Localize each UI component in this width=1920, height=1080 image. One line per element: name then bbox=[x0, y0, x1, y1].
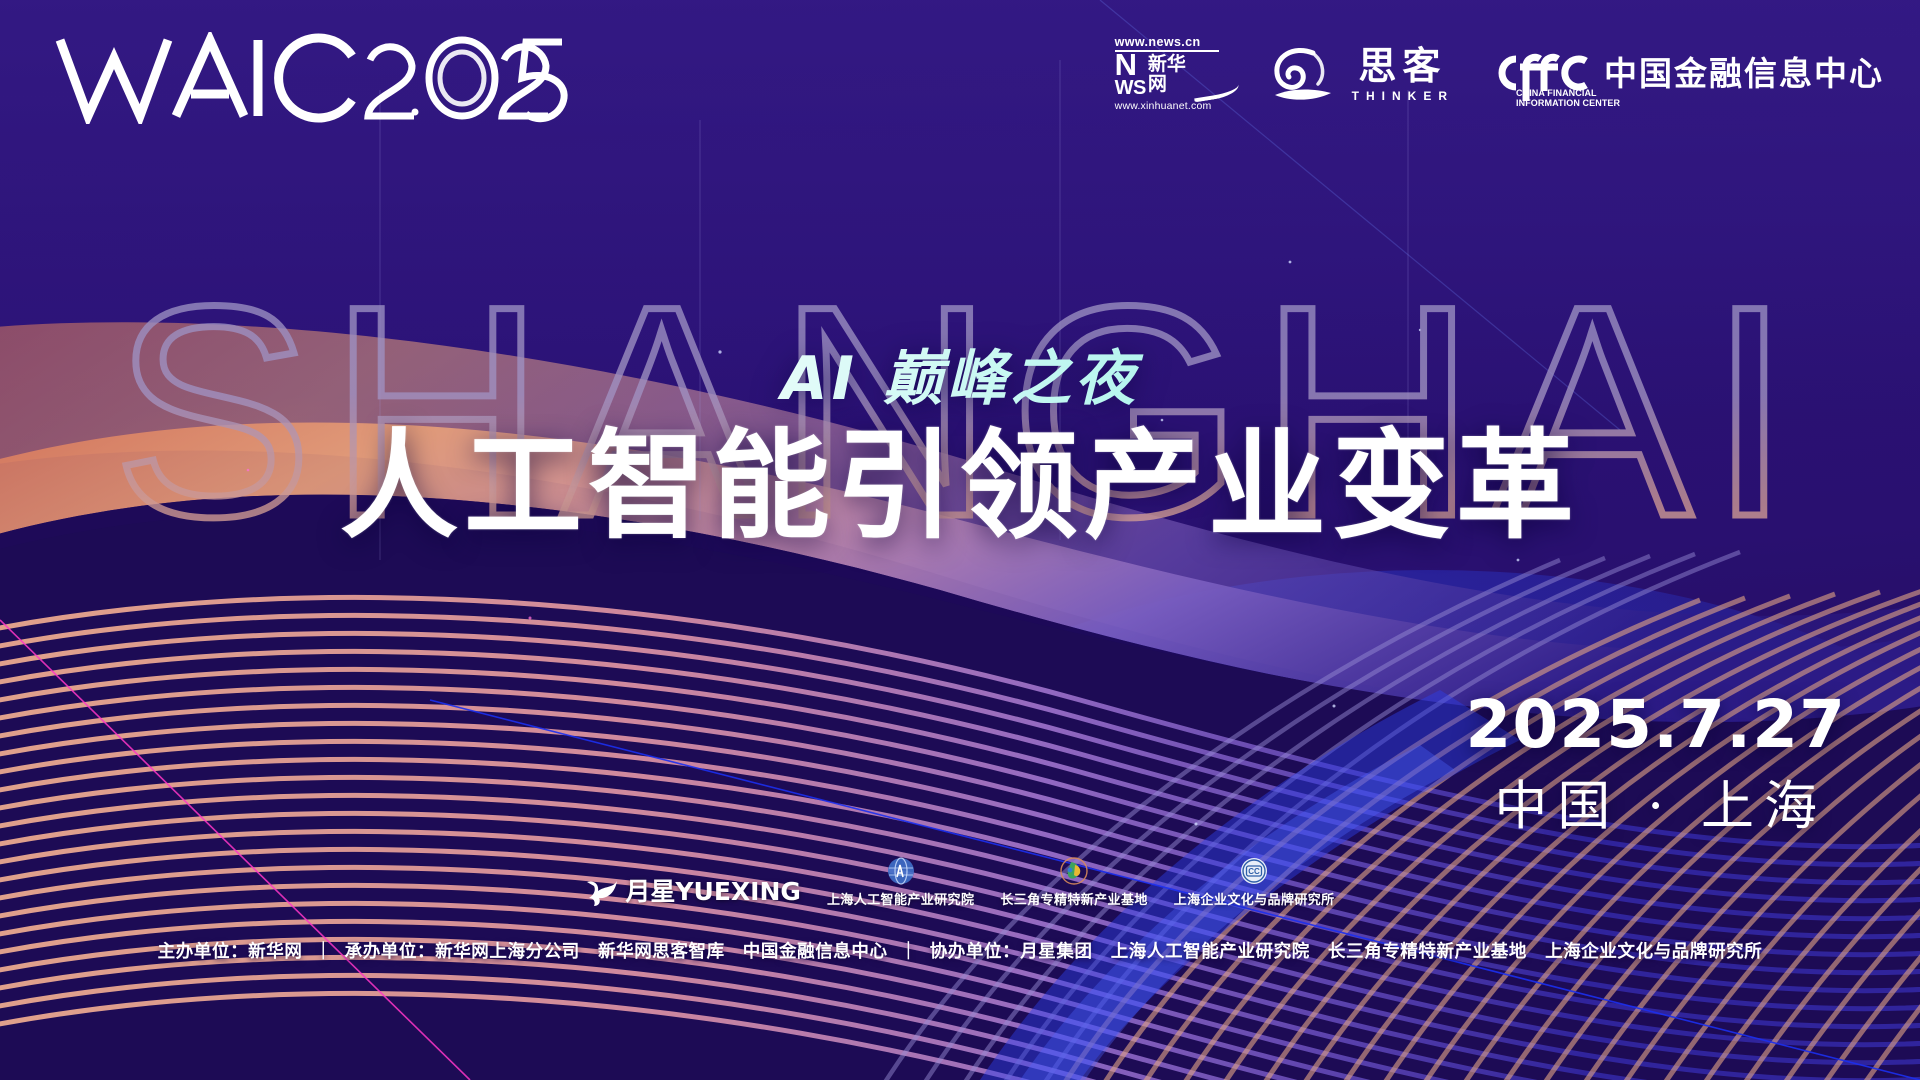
footer-credits: 主办单位：新华网｜承办单位：新华网上海分公司 新华网思客智库 中国金融信息中心｜… bbox=[0, 938, 1920, 963]
xinhua-nws-mark: N WS bbox=[1115, 54, 1146, 99]
footer-host-label: 主办单位： bbox=[158, 942, 249, 962]
sponsor-saii: 上海人工智能产业研究院 bbox=[827, 852, 974, 908]
thinker-brush-swirl-icon bbox=[1269, 43, 1335, 105]
thinker-logo: 思客 THINKER bbox=[1269, 38, 1454, 110]
svg-text:CC: CC bbox=[1248, 867, 1260, 876]
poster-header: www.news.cn N WS 新华 网 www.xinhuanet.com bbox=[0, 0, 1920, 150]
thinker-cn-name: 思客 bbox=[1352, 46, 1446, 86]
globe-ai-icon bbox=[886, 852, 916, 886]
cfic-logo: CHINA FINANCIAL INFORMATION CENTER 中国金融信… bbox=[1488, 37, 1884, 111]
sponsor-yrd-base-label: 长三角专精特新产业基地 bbox=[1000, 889, 1147, 908]
footer-organizer-label: 承办单位： bbox=[345, 942, 436, 962]
footer-coorganizer-label: 协办单位： bbox=[930, 942, 1021, 962]
xinhuanet-logo: www.news.cn N WS 新华 网 www.xinhuanet.com bbox=[1115, 35, 1235, 113]
sponsor-logo-row: 月星YUEXING 上海人工智能产业研究院 bbox=[0, 852, 1920, 908]
cfic-cn-name: 中国金融信息中心 bbox=[1604, 56, 1884, 92]
cfic-wordmark-icon: CHINA FINANCIAL INFORMATION CENTER bbox=[1488, 43, 1592, 105]
cfic-english-sub: CHINA FINANCIAL INFORMATION CENTER bbox=[1516, 88, 1620, 108]
sponsor-yrd-base: 长三角专精特新产业基地 bbox=[1000, 852, 1147, 908]
circle-map-icon bbox=[1059, 852, 1089, 886]
footer-organizer-values: 新华网上海分公司 新华网思客智库 中国金融信息中心 bbox=[435, 942, 888, 962]
event-date: 2025.7.27 bbox=[1465, 690, 1846, 760]
event-subtitle: AI 巅峰之夜 bbox=[0, 330, 1920, 417]
sponsor-saii-label: 上海人工智能产业研究院 bbox=[827, 889, 974, 908]
footer-host-value: 新华网 bbox=[248, 942, 302, 962]
sponsor-yuexing-label: 月星YUEXING bbox=[625, 872, 801, 908]
sponsor-secbri-label: 上海企业文化与品牌研究所 bbox=[1174, 889, 1335, 908]
event-datetime-block: 2025.7.27 中国 · 上海 bbox=[1465, 690, 1846, 838]
sponsor-yuexing: 月星YUEXING bbox=[585, 872, 801, 908]
xinhua-url-bottom: www.xinhuanet.com bbox=[1115, 100, 1235, 112]
footer-separator-2: ｜ bbox=[888, 942, 930, 962]
waic-2025-logo bbox=[52, 32, 572, 124]
xinhua-cn-mark: 新华 网 bbox=[1148, 54, 1186, 94]
poster-canvas: SHANGHAI bbox=[0, 0, 1920, 1080]
seal-badge-icon: CC bbox=[1239, 852, 1269, 886]
partner-logo-group: www.news.cn N WS 新华 网 www.xinhuanet.com bbox=[1115, 34, 1884, 114]
footer-separator-1: ｜ bbox=[302, 942, 344, 962]
star-bird-icon bbox=[585, 873, 619, 907]
thinker-en-name: THINKER bbox=[1345, 89, 1454, 103]
event-headline: 人工智能引领产业变革 bbox=[0, 425, 1920, 547]
event-location: 中国 · 上海 bbox=[1465, 776, 1846, 838]
footer-coorganizer-values: 月星集团 上海人工智能产业研究院 长三角专精特新产业基地 上海企业文化与品牌研究… bbox=[1020, 942, 1762, 962]
sponsor-secbri: CC 上海企业文化与品牌研究所 bbox=[1174, 852, 1335, 908]
